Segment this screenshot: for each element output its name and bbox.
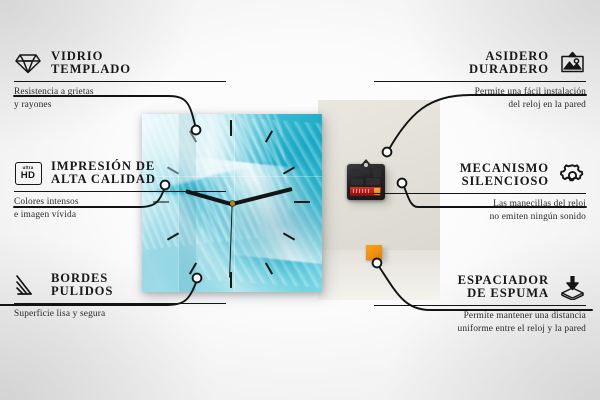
mechanism-hanger-hole (364, 163, 368, 167)
battery-label (353, 189, 371, 193)
feature-title-line2: PULIDOS (51, 285, 113, 298)
feature-divider (14, 303, 226, 305)
feature-mecanismo-silencioso[interactable]: MECANISMO SILENCIOSO Las manecillas del … (374, 162, 586, 223)
feature-description: Colores intensose imagen vívida (14, 196, 226, 221)
picture-hanger-icon (558, 50, 586, 76)
clock-tick (230, 272, 232, 288)
gear-icon (558, 162, 586, 188)
feature-description: Permite mantener una distanciauniforme e… (374, 310, 586, 335)
second-hand (229, 204, 233, 278)
feature-asidero-duradero[interactable]: ASIDERO DURADERO Permite una fácil insta… (374, 50, 586, 111)
feature-impresion-alta-calidad[interactable]: ultra HD IMPRESIÓN DE ALTA CALIDAD Color… (14, 160, 226, 221)
ultra-hd-badge-icon: ultra HD (14, 160, 42, 186)
clock-tick (294, 201, 310, 203)
feature-description: Las manecillas del relojno emiten ningún… (374, 198, 586, 223)
clock-tick (283, 166, 295, 174)
feature-title-line1: ESPACIADOR (458, 274, 549, 287)
clock-tick (230, 120, 232, 136)
feature-divider (374, 193, 586, 195)
feature-vidrio-templado[interactable]: VIDRIO TEMPLADO Resistencia a grietasy r… (14, 50, 226, 111)
mechanism-detail (351, 179, 363, 185)
foam-spacer-icon (558, 274, 586, 300)
clock-tick (265, 130, 273, 142)
mechanism-detail (351, 169, 360, 176)
feature-title-line1: VIDRIO (51, 50, 131, 63)
infographic-canvas: VIDRIO TEMPLADO Resistencia a grietasy r… (0, 0, 600, 400)
feature-title-line2: ALTA CALIDAD (51, 173, 156, 186)
feature-title-line2: SILENCIOSO (460, 175, 549, 188)
feature-title-line1: IMPRESIÓN DE (51, 160, 156, 173)
polished-edges-icon (14, 272, 42, 298)
feature-title-line1: MECANISMO (460, 162, 549, 175)
clock-tick (283, 232, 295, 240)
minute-hand (232, 187, 293, 206)
feature-title-line1: ASIDERO (469, 50, 549, 63)
foam-spacer (366, 245, 382, 260)
feature-title-line1: BORDES (51, 272, 113, 285)
clock-tick (265, 262, 273, 274)
feature-description: Permite una fácil instalacióndel reloj e… (374, 86, 586, 111)
feature-divider (374, 305, 586, 307)
hd-badge-large-text: HD (21, 171, 35, 181)
feature-bordes-pulidos[interactable]: BORDES PULIDOS Superficie lisa y segura (14, 272, 226, 321)
feature-title-line2: DURADERO (469, 63, 549, 76)
feature-divider (374, 81, 586, 83)
feature-divider (14, 81, 226, 83)
feature-title-line2: TEMPLADO (51, 63, 131, 76)
feature-description: Superficie lisa y segura (14, 308, 226, 321)
feature-title-line2: DE ESPUMA (458, 287, 549, 300)
diamond-icon (14, 50, 42, 76)
clock-hands-hub (230, 201, 235, 206)
feature-divider (14, 191, 226, 193)
feature-espaciador-de-espuma[interactable]: ESPACIADOR DE ESPUMA Permite mantener un… (374, 274, 586, 335)
feature-description: Resistencia a grietasy rayones (14, 86, 226, 111)
mechanism-detail (363, 168, 370, 173)
